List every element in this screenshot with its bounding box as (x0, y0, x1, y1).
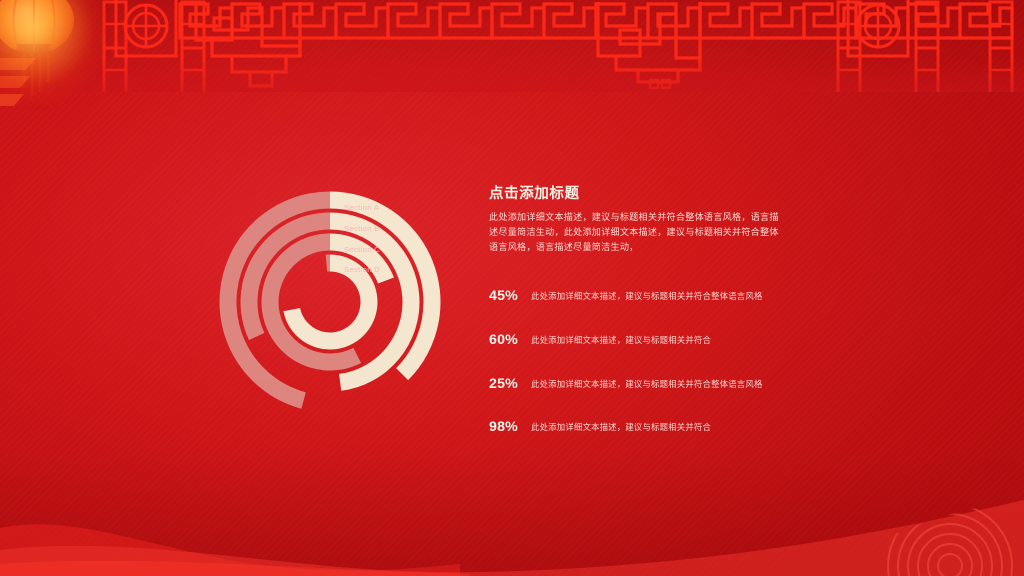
stat-description: 此处添加详细文本描述，建议与标题相关并符合 (531, 332, 789, 348)
legend-item-section-d[interactable]: Section D (344, 266, 434, 274)
chart-ring-track (326, 255, 330, 272)
stat-row: 45% 此处添加详细文本描述，建议与标题相关并符合整体语言风格 (489, 288, 789, 306)
stat-percent: 25% (489, 376, 531, 394)
stat-percent: 45% (489, 288, 531, 306)
stat-row: 98% 此处添加详细文本描述，建议与标题相关并符合 (489, 419, 789, 437)
stats-list: 45% 此处添加详细文本描述，建议与标题相关并符合整体语言风格 60% 此处添加… (489, 288, 789, 463)
page-title: 点击添加标题 (489, 186, 789, 203)
stat-description: 此处添加详细文本描述，建议与标题相关并符合 (531, 419, 789, 435)
stat-description: 此处添加详细文本描述，建议与标题相关并符合整体语言风格 (531, 288, 789, 304)
stat-description: 此处添加详细文本描述，建议与标题相关并符合整体语言风格 (531, 376, 789, 392)
slide-canvas: Section A Section B Section C Section D … (0, 0, 1024, 576)
stat-row: 25% 此处添加详细文本描述，建议与标题相关并符合整体语言风格 (489, 376, 789, 394)
content-description: 此处添加详细文本描述，建议与标题相关并符合整体语言风格，语言描述尽量简洁生动，此… (489, 210, 781, 254)
legend-item-section-a[interactable]: Section A (344, 204, 434, 212)
stat-percent: 60% (489, 332, 531, 350)
content-block: 点击添加标题 此处添加详细文本描述，建议与标题相关并符合整体语言风格，语言描述尽… (489, 186, 789, 255)
chart-legend: Section A Section B Section C Section D (344, 204, 434, 287)
stat-row: 60% 此处添加详细文本描述，建议与标题相关并符合 (489, 332, 789, 350)
bottom-wave-decoration (0, 466, 1024, 576)
legend-item-section-b[interactable]: Section B (344, 225, 434, 233)
chinese-fret-border-top (0, 0, 1024, 92)
stat-percent: 98% (489, 419, 531, 437)
legend-item-section-c[interactable]: Section C (344, 246, 434, 254)
